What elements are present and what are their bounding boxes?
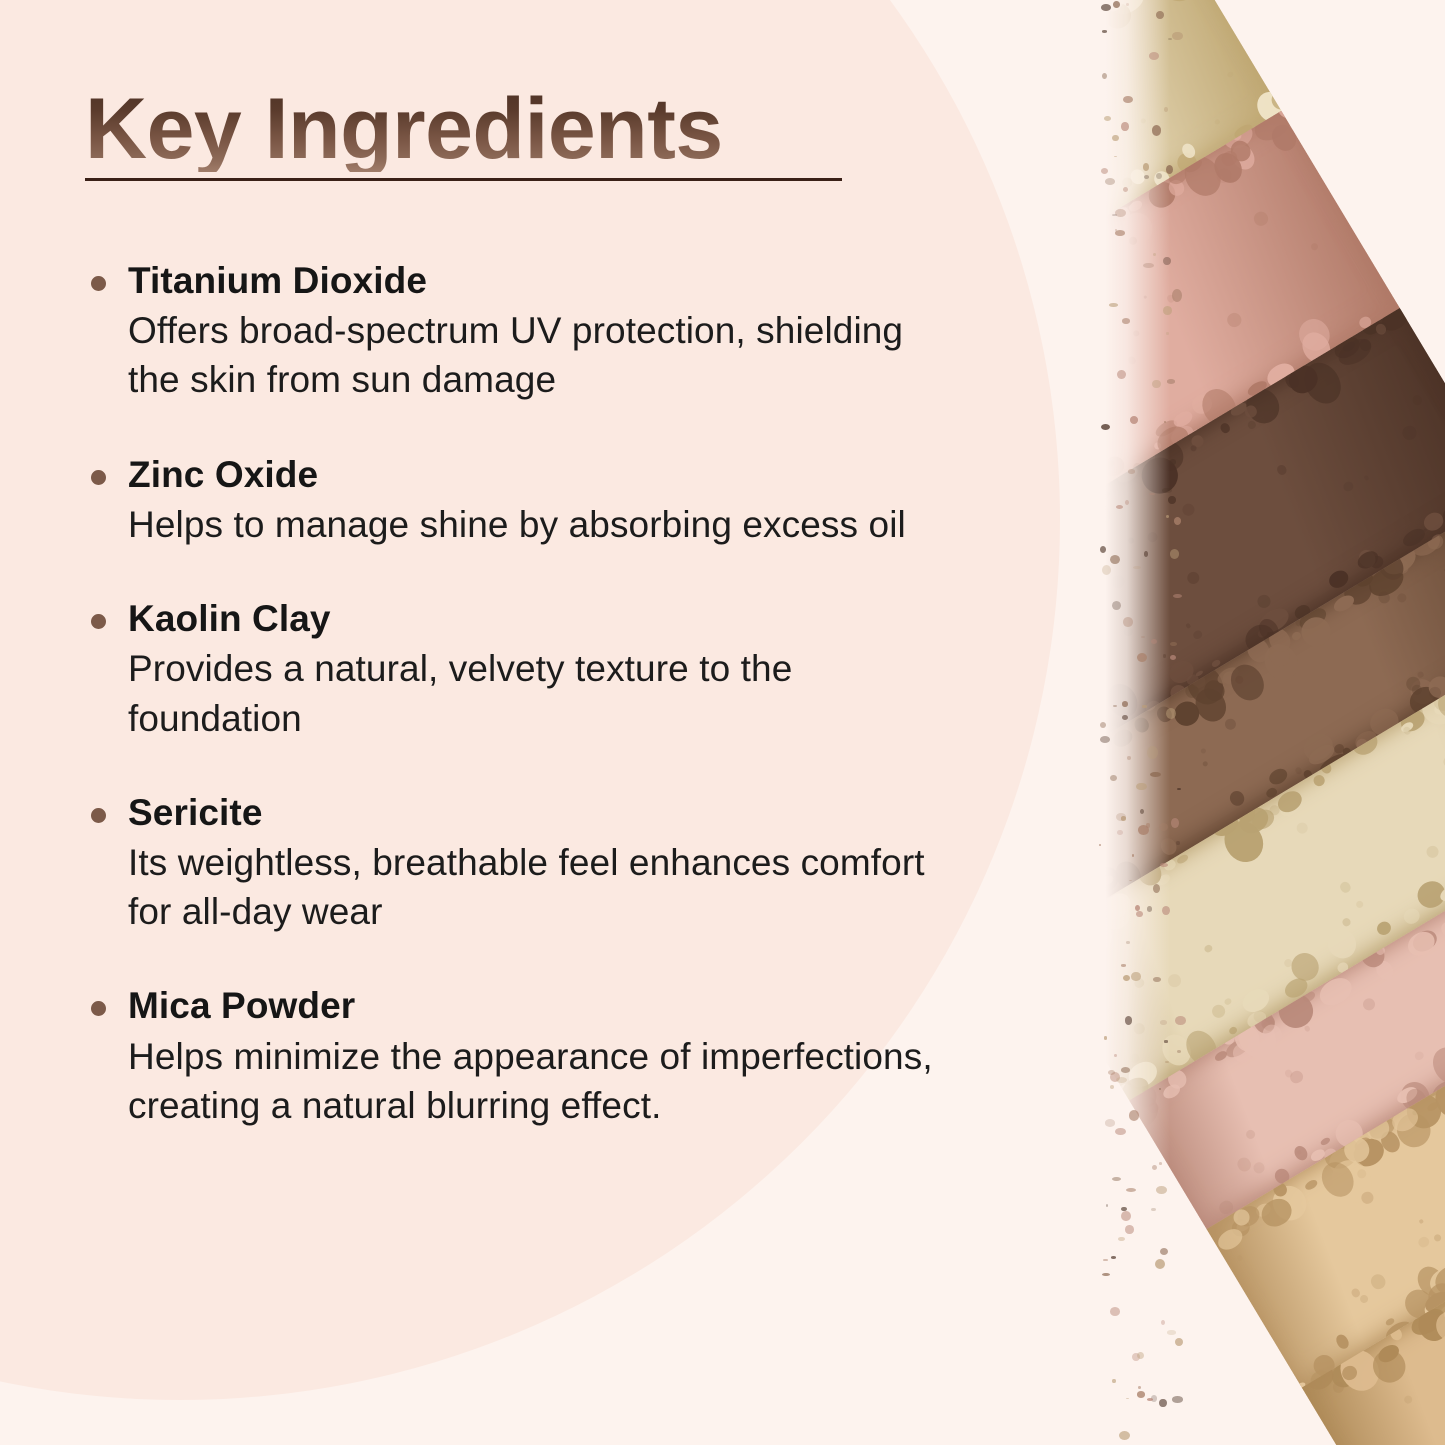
powder-fleck bbox=[1400, 424, 1419, 443]
powder-fleck bbox=[1223, 997, 1232, 1006]
list-item: Sericite Its weightless, breathable feel… bbox=[88, 790, 1028, 937]
powder-crumb bbox=[1341, 339, 1357, 353]
bullet-dot-icon bbox=[91, 614, 106, 629]
bullet-dot-icon bbox=[91, 470, 106, 485]
powder-fleck bbox=[1132, 329, 1140, 337]
powder-dust bbox=[1137, 653, 1147, 662]
powder-crumb bbox=[1249, 806, 1278, 833]
powder-fleck bbox=[1146, 530, 1160, 544]
powder-dust bbox=[1118, 1237, 1125, 1241]
powder-fleck bbox=[1225, 310, 1243, 328]
powder-fleck bbox=[1234, 674, 1245, 685]
powder-fleck bbox=[1109, 573, 1127, 591]
powder-dust bbox=[1162, 488, 1172, 494]
powder-fleck bbox=[1275, 463, 1288, 476]
powder-dust bbox=[1110, 1085, 1115, 1089]
title-block: Key Ingredients bbox=[85, 86, 865, 172]
powder-dust bbox=[1167, 379, 1175, 383]
powder-crumb bbox=[1400, 721, 1415, 734]
powder-crumb bbox=[1377, 1128, 1403, 1156]
powder-fleck bbox=[1214, 118, 1221, 125]
powder-crumb bbox=[1080, 0, 1081, 8]
powder-fleck bbox=[1192, 629, 1204, 641]
powder-crumb bbox=[1220, 669, 1237, 686]
powder-crumb bbox=[1303, 1178, 1319, 1192]
powder-crumb bbox=[1080, 907, 1119, 958]
powder-crumb bbox=[1349, 1134, 1390, 1173]
powder-fleck bbox=[1101, 265, 1111, 275]
bullet-dot-icon bbox=[91, 1001, 106, 1016]
powder-fleck bbox=[1413, 1050, 1424, 1061]
powder-crumb bbox=[1321, 923, 1361, 964]
powder-crumb bbox=[1080, 230, 1085, 252]
powder-dust bbox=[1175, 1338, 1183, 1346]
list-item: Kaolin Clay Provides a natural, velvety … bbox=[88, 596, 1028, 743]
powder-crumb bbox=[1166, 177, 1187, 199]
powder-dust bbox=[1132, 854, 1135, 857]
powder-dust bbox=[1122, 715, 1128, 720]
powder-dust bbox=[1160, 1020, 1167, 1024]
powder-dust bbox=[1142, 705, 1146, 707]
powder-dust bbox=[1160, 1248, 1168, 1255]
powder-fleck bbox=[1200, 747, 1207, 754]
powder-fleck bbox=[1127, 235, 1138, 246]
powder-dust bbox=[1147, 906, 1152, 911]
powder-crumb bbox=[1195, 670, 1204, 677]
powder-dust bbox=[1159, 1162, 1162, 1165]
powder-crumb bbox=[1355, 548, 1382, 573]
text-content-panel: Key Ingredients Titanium Dioxide Offers … bbox=[0, 0, 1090, 1445]
powder-dust bbox=[1152, 1165, 1157, 1170]
powder-dust bbox=[1170, 459, 1176, 465]
powder-dust bbox=[1126, 1398, 1129, 1400]
powder-dust bbox=[1100, 546, 1106, 553]
powder-dust bbox=[1137, 1391, 1145, 1397]
powder-dust bbox=[1116, 813, 1126, 821]
ingredient-description: Provides a natural, velvety texture to t… bbox=[128, 644, 938, 742]
bullet-dot-icon bbox=[91, 276, 106, 291]
powder-dust bbox=[1100, 736, 1110, 743]
page-title: Key Ingredients bbox=[85, 86, 865, 172]
powder-crumb bbox=[1215, 664, 1242, 687]
powder-crumb bbox=[1080, 13, 1108, 44]
powder-crumb bbox=[1290, 111, 1330, 136]
powder-fleck bbox=[1147, 1101, 1161, 1115]
powder-crumb bbox=[1160, 1081, 1182, 1101]
powder-dust bbox=[1112, 1379, 1116, 1384]
powder-crumb bbox=[1243, 403, 1259, 419]
powder-dust bbox=[1102, 30, 1107, 32]
powder-crumb bbox=[1228, 1025, 1238, 1035]
powder-dust bbox=[1123, 96, 1133, 103]
powder-fleck bbox=[1122, 626, 1134, 638]
powder-fleck bbox=[1087, 915, 1091, 919]
powder-dust bbox=[1164, 107, 1168, 112]
powder-dust bbox=[1160, 863, 1168, 867]
powder-crumb bbox=[1267, 120, 1301, 155]
ingredient-description: Offers broad-spectrum UV protection, shi… bbox=[128, 306, 938, 404]
powder-dust bbox=[1119, 1431, 1130, 1440]
powder-fleck bbox=[1261, 1018, 1277, 1034]
powder-fleck bbox=[1310, 242, 1320, 252]
powder-fleck bbox=[1202, 760, 1209, 767]
powder-fleck bbox=[1368, 1272, 1388, 1292]
ingredient-list: Titanium Dioxide Offers broad-spectrum U… bbox=[88, 258, 1028, 1130]
powder-dust bbox=[1171, 818, 1179, 828]
powder-dust bbox=[1152, 380, 1161, 389]
powder-dust bbox=[1159, 1088, 1161, 1090]
powder-fleck bbox=[1442, 755, 1445, 769]
powder-fleck bbox=[1166, 972, 1184, 990]
powder-dust bbox=[1151, 639, 1157, 644]
powder-fleck bbox=[1355, 900, 1364, 909]
powder-crumb bbox=[1192, 1221, 1202, 1229]
powder-dust bbox=[1112, 214, 1117, 216]
powder-fleck bbox=[1143, 295, 1147, 299]
powder-fleck bbox=[1245, 1128, 1257, 1140]
powder-fleck bbox=[1185, 569, 1202, 586]
powder-dust bbox=[1113, 1, 1120, 8]
powder-dust bbox=[1151, 1208, 1155, 1211]
powder-dust bbox=[1138, 1386, 1141, 1389]
powder-crumb bbox=[1358, 337, 1373, 353]
powder-crumb bbox=[1373, 321, 1388, 336]
powder-dust bbox=[1112, 1177, 1121, 1181]
powder-fleck bbox=[1268, 804, 1281, 817]
powder-dust bbox=[1129, 1110, 1139, 1121]
powder-fleck bbox=[1246, 420, 1257, 431]
powder-fleck bbox=[1295, 820, 1311, 836]
powder-dust bbox=[1164, 1040, 1167, 1042]
powder-crumb bbox=[1080, 717, 1095, 741]
powder-crumb bbox=[1214, 1049, 1229, 1063]
powder-fleck bbox=[1252, 210, 1271, 229]
powder-dust bbox=[1116, 505, 1123, 509]
powder-crumb bbox=[1158, 835, 1179, 857]
powder-dust bbox=[1137, 1352, 1144, 1359]
powder-crumb bbox=[1259, 1021, 1286, 1048]
powder-crumb bbox=[1290, 630, 1302, 642]
ingredient-name: Titanium Dioxide bbox=[128, 258, 1028, 304]
powder-fleck bbox=[1376, 590, 1392, 606]
powder-crumb bbox=[1297, 356, 1349, 411]
powder-fleck bbox=[1210, 1002, 1228, 1020]
bullet-dot-icon bbox=[91, 808, 106, 823]
powder-crumb bbox=[1229, 1039, 1256, 1066]
powder-fleck bbox=[1127, 355, 1137, 365]
powder-crumb bbox=[1080, 915, 1087, 940]
key-ingredients-page: Key Ingredients Titanium Dioxide Offers … bbox=[0, 0, 1445, 1445]
ingredient-description: Its weightless, breathable feel enhances… bbox=[128, 838, 938, 936]
powder-crumb bbox=[1254, 1201, 1273, 1219]
powder-fleck bbox=[1127, 536, 1135, 544]
powder-dust bbox=[1159, 1399, 1166, 1407]
powder-dust bbox=[1102, 1273, 1110, 1276]
powder-dust bbox=[1125, 1225, 1133, 1234]
powder-crumb bbox=[1340, 1363, 1360, 1383]
powder-dust bbox=[1110, 775, 1117, 781]
powder-dust bbox=[1110, 1307, 1120, 1316]
powder-fleck bbox=[1181, 501, 1197, 517]
powder-dust bbox=[1152, 125, 1161, 135]
powder-crumb bbox=[1175, 853, 1189, 866]
powder-crumb bbox=[1235, 1218, 1252, 1233]
powder-crumb bbox=[1228, 141, 1260, 174]
powder-fleck bbox=[1416, 1235, 1430, 1249]
powder-fleck bbox=[1236, 1255, 1243, 1262]
powder-crumb bbox=[1080, 17, 1084, 47]
powder-crumb bbox=[1367, 1344, 1411, 1389]
powder-dust bbox=[1121, 122, 1128, 131]
powder-fleck bbox=[1419, 1219, 1424, 1224]
powder-fleck bbox=[1223, 716, 1239, 732]
powder-bands bbox=[1080, 0, 1445, 1445]
powder-fleck bbox=[1341, 917, 1351, 927]
powder-dust bbox=[1106, 1204, 1108, 1207]
powder-crumb bbox=[1326, 567, 1351, 591]
powder-fleck bbox=[1294, 767, 1303, 776]
powder-crumb bbox=[1200, 677, 1228, 706]
powder-dust bbox=[1159, 823, 1168, 831]
powder-dust bbox=[1121, 1211, 1130, 1221]
powder-dust bbox=[1168, 38, 1172, 40]
powder-fleck bbox=[1190, 444, 1198, 452]
powder-swatch-image bbox=[1080, 0, 1445, 1445]
powder-crumb bbox=[1080, 498, 1113, 536]
powder-dust bbox=[1156, 1186, 1167, 1194]
powder-fleck bbox=[1235, 1155, 1254, 1174]
powder-dust bbox=[1104, 1036, 1108, 1039]
powder-dust bbox=[1104, 116, 1112, 121]
powder-crumb bbox=[1080, 3, 1093, 59]
powder-dust bbox=[1138, 825, 1149, 835]
powder-crumb bbox=[1312, 773, 1326, 787]
powder-crumb bbox=[1083, 497, 1115, 530]
powder-dust bbox=[1105, 1119, 1116, 1127]
powder-crumb bbox=[1219, 148, 1240, 169]
powder-fleck bbox=[1140, 117, 1147, 124]
powder-dust bbox=[1103, 1259, 1107, 1262]
powder-dust bbox=[1167, 1330, 1175, 1334]
powder-crumb bbox=[1258, 638, 1305, 686]
powder-dust bbox=[1172, 289, 1182, 302]
powder-dust bbox=[1113, 705, 1117, 707]
powder-crumb bbox=[1404, 927, 1440, 961]
powder-fleck bbox=[1433, 1233, 1442, 1242]
powder-fleck bbox=[1132, 1021, 1146, 1035]
powder-fleck bbox=[1080, 547, 1084, 557]
ingredient-name: Kaolin Clay bbox=[128, 596, 1028, 642]
powder-dust bbox=[1117, 370, 1126, 379]
powder-dust bbox=[1156, 173, 1162, 179]
powder-fleck bbox=[1080, 945, 1084, 958]
powder-crumb bbox=[1410, 927, 1441, 955]
powder-dust bbox=[1128, 469, 1136, 473]
powder-crumb bbox=[1401, 906, 1422, 927]
powder-dust bbox=[1133, 566, 1141, 569]
powder-dust bbox=[1166, 332, 1169, 334]
powder-dust bbox=[1126, 3, 1129, 6]
powder-dust bbox=[1144, 551, 1148, 556]
powder-fleck bbox=[1331, 1380, 1346, 1395]
powder-fleck bbox=[1396, 592, 1408, 604]
powder-fleck bbox=[1203, 943, 1213, 953]
ingredient-description: Helps minimize the appearance of imperfe… bbox=[128, 1032, 938, 1130]
powder-crumb bbox=[1273, 111, 1302, 122]
powder-crumb bbox=[1440, 693, 1445, 737]
powder-crumb bbox=[1227, 788, 1247, 809]
ingredient-description: Helps to manage shine by absorbing exces… bbox=[128, 500, 938, 549]
powder-dust bbox=[1101, 4, 1111, 10]
powder-fleck bbox=[1342, 480, 1355, 493]
powder-crumb bbox=[1090, 474, 1101, 483]
powder-fleck bbox=[1255, 593, 1272, 610]
powder-dust bbox=[1122, 701, 1128, 706]
powder-fleck bbox=[1103, 914, 1107, 918]
powder-dust bbox=[1166, 165, 1173, 174]
powder-crumb bbox=[1219, 422, 1232, 435]
powder-crumb bbox=[1320, 1137, 1331, 1147]
ingredient-name: Mica Powder bbox=[128, 983, 1028, 1029]
powder-dust bbox=[1101, 424, 1110, 430]
powder-crumb bbox=[1110, 726, 1136, 750]
powder-crumb bbox=[1153, 0, 1204, 8]
powder-crumb bbox=[1439, 920, 1445, 939]
powder-dust bbox=[1125, 1016, 1133, 1025]
powder-fleck bbox=[1295, 619, 1303, 627]
powder-crumb bbox=[1223, 1036, 1251, 1060]
powder-fleck bbox=[1361, 996, 1378, 1013]
powder-fleck bbox=[1359, 1293, 1370, 1304]
powder-dust bbox=[1175, 1016, 1185, 1025]
powder-crumb bbox=[1374, 320, 1389, 336]
powder-dust bbox=[1123, 617, 1133, 627]
powder-fleck bbox=[1102, 1006, 1111, 1015]
powder-dust bbox=[1161, 1320, 1165, 1325]
powder-fleck bbox=[1252, 1161, 1267, 1176]
powder-dust bbox=[1172, 1396, 1182, 1402]
powder-dust bbox=[1149, 52, 1160, 60]
powder-fleck bbox=[1417, 671, 1425, 679]
powder-crumb bbox=[1333, 1332, 1351, 1351]
powder-dust bbox=[1126, 1188, 1136, 1192]
powder-fleck bbox=[1411, 1110, 1418, 1117]
powder-dust bbox=[1136, 911, 1142, 917]
powder-dust bbox=[1144, 175, 1150, 179]
powder-crumb bbox=[1209, 148, 1247, 188]
powder-dust bbox=[1117, 830, 1123, 835]
powder-crumb bbox=[1267, 765, 1290, 787]
powder-crumb bbox=[1430, 1307, 1445, 1347]
powder-crumb bbox=[1214, 1225, 1246, 1254]
powder-dust bbox=[1112, 601, 1121, 610]
powder-dust bbox=[1115, 230, 1125, 236]
powder-fleck bbox=[1185, 623, 1191, 629]
powder-crumb bbox=[1099, 489, 1111, 500]
powder-dust bbox=[1141, 636, 1145, 638]
powder-dust bbox=[1170, 549, 1180, 559]
ingredient-name: Zinc Oxide bbox=[128, 452, 1028, 498]
powder-dust bbox=[1177, 1050, 1181, 1053]
powder-dust bbox=[1110, 555, 1120, 564]
powder-dust bbox=[1162, 906, 1170, 915]
powder-crumb bbox=[1099, 901, 1134, 934]
powder-crumb bbox=[1374, 919, 1393, 937]
list-item: Mica Powder Helps minimize the appearanc… bbox=[88, 983, 1028, 1130]
powder-fleck bbox=[1363, 475, 1369, 481]
powder-dust bbox=[1147, 746, 1158, 759]
powder-dust bbox=[1166, 515, 1169, 518]
powder-fleck bbox=[1411, 394, 1424, 407]
powder-fleck bbox=[1080, 399, 1094, 418]
powder-dust bbox=[1121, 1207, 1127, 1212]
powder-crumb bbox=[1391, 1107, 1436, 1153]
powder-dust bbox=[1163, 306, 1172, 315]
powder-fleck bbox=[1424, 844, 1441, 861]
powder-crumb bbox=[1228, 137, 1254, 164]
powder-dust bbox=[1111, 1256, 1116, 1259]
powder-crumb bbox=[1225, 659, 1270, 706]
powder-dust bbox=[1143, 263, 1153, 268]
powder-crumb bbox=[1278, 797, 1302, 820]
powder-dust bbox=[1115, 1128, 1126, 1135]
list-item: Zinc Oxide Helps to manage shine by abso… bbox=[88, 452, 1028, 549]
powder-fleck bbox=[1338, 880, 1352, 894]
powder-crumb bbox=[1132, 715, 1152, 735]
ingredient-name: Sericite bbox=[128, 790, 1028, 836]
powder-dust bbox=[1101, 168, 1108, 174]
powder-dust bbox=[1131, 972, 1140, 980]
powder-fleck bbox=[1403, 1394, 1414, 1405]
powder-dust bbox=[1155, 1259, 1165, 1269]
powder-crumb bbox=[1425, 1100, 1439, 1113]
powder-fleck bbox=[1402, 726, 1412, 736]
powder-dust bbox=[1150, 772, 1160, 777]
powder-dust bbox=[1109, 303, 1118, 307]
powder-crumb bbox=[1373, 958, 1397, 983]
powder-crumb bbox=[1375, 1341, 1402, 1365]
list-item: Titanium Dioxide Offers broad-spectrum U… bbox=[88, 258, 1028, 405]
powder-crumb bbox=[1228, 1215, 1253, 1240]
powder-fleck bbox=[1226, 71, 1234, 79]
powder-dust bbox=[1122, 318, 1130, 324]
powder-fleck bbox=[1303, 1025, 1311, 1033]
powder-dust bbox=[1130, 416, 1138, 423]
powder-fleck bbox=[1088, 638, 1107, 657]
title-underline bbox=[85, 178, 842, 181]
powder-crumb bbox=[1189, 433, 1205, 449]
powder-crumb bbox=[1297, 613, 1336, 652]
powder-dust bbox=[1105, 178, 1115, 185]
powder-crumb bbox=[1257, 1194, 1296, 1232]
